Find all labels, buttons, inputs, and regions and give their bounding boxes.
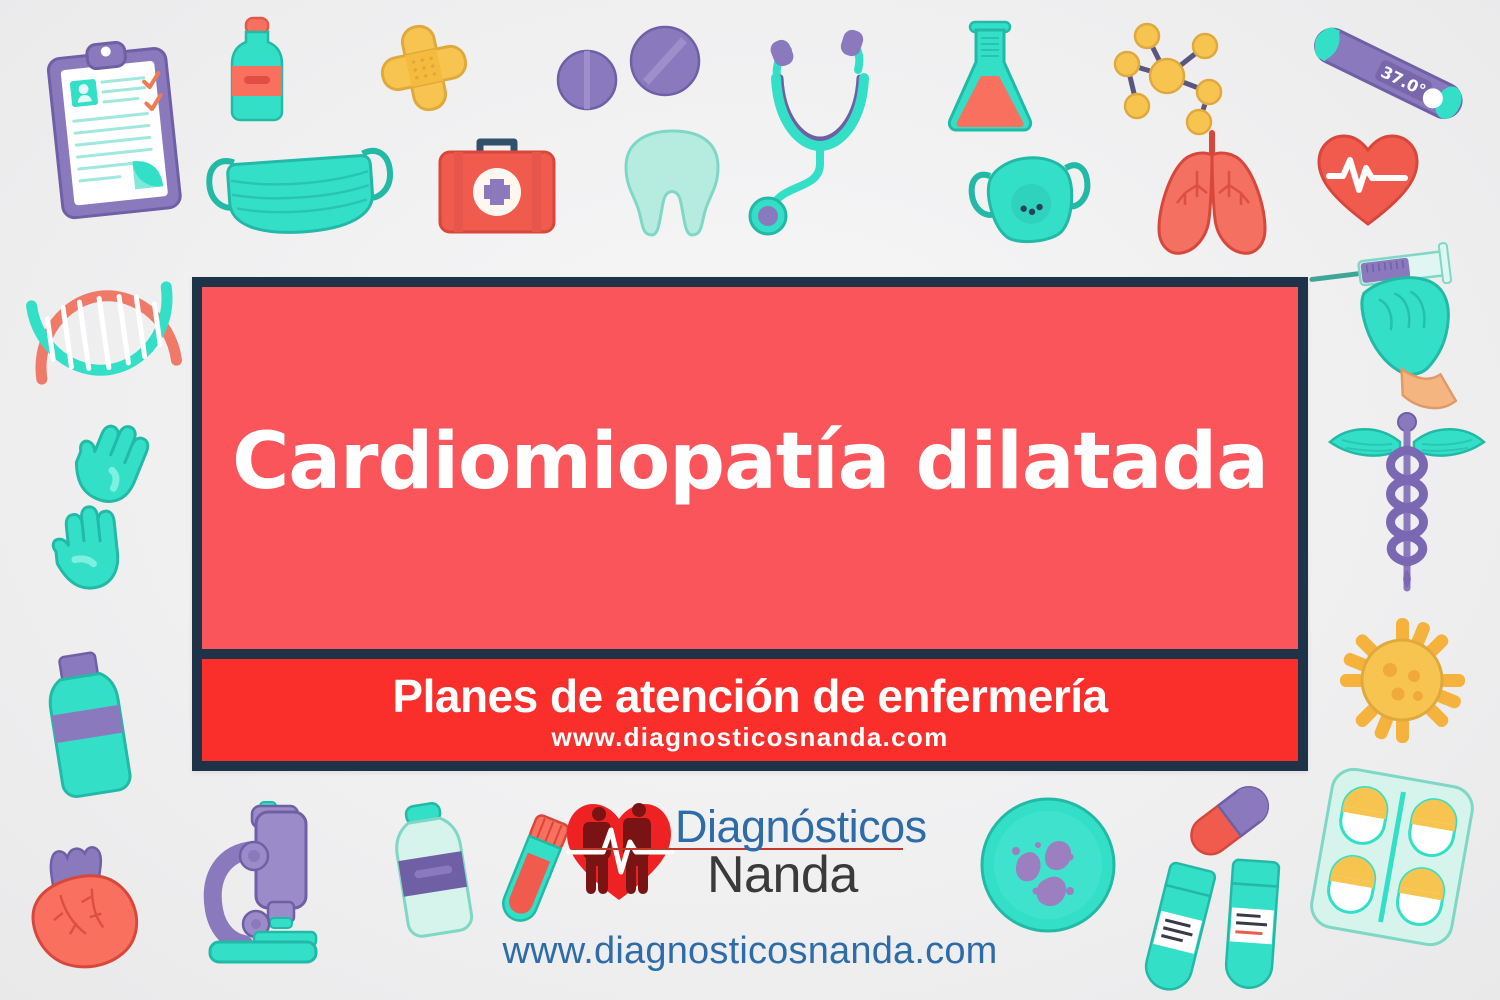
clipboard-icon: [45, 35, 185, 225]
title-panel: Cardiomiopatía dilatada: [202, 287, 1298, 649]
glove-upper-icon: [62, 418, 162, 513]
syringe-hand-icon: [1310, 232, 1475, 417]
pill-small-icon: [555, 48, 619, 112]
stethoscope-icon: [748, 22, 893, 237]
blister-pack-icon: [1305, 765, 1480, 950]
logo-word-secondary: Nanda: [707, 849, 858, 901]
heart-pulse-icon: [1313, 130, 1423, 230]
medicine-bottle-icon: [222, 14, 292, 134]
adhesive-bandage-icon: [378, 22, 470, 114]
tooth-icon: [618, 125, 728, 240]
capsule-icon: [1182, 780, 1277, 860]
first-aid-kit-icon: [432, 128, 562, 238]
title-card: Cardiomiopatía dilatada Planes de atenci…: [192, 277, 1308, 771]
pill-large-icon: [628, 24, 702, 98]
card-url: www.diagnosticosnanda.com: [551, 724, 948, 750]
page-title: Cardiomiopatía dilatada: [202, 425, 1298, 499]
subtitle-band: Planes de atención de enfermería www.dia…: [202, 659, 1298, 761]
lungs-icon: [1145, 125, 1280, 265]
logo-word-primary: Diagnósticos: [675, 804, 927, 849]
poster-canvas: 37.0°: [0, 0, 1500, 1000]
logo-wordmark: Diagnósticos Nanda: [675, 796, 938, 908]
thermometer-icon: 37.0°: [1302, 16, 1472, 136]
caduceus-icon: [1322, 410, 1492, 595]
erlenmeyer-flask-icon: [940, 18, 1040, 138]
vial-bottle-icon: [382, 800, 482, 940]
dna-helix-icon: [22, 278, 187, 388]
blood-tube-icon: [494, 812, 572, 932]
spray-bottle-icon: [38, 650, 138, 805]
virus-icon: [1340, 618, 1465, 743]
respirator-mask-icon: [965, 150, 1095, 255]
glove-lower-icon: [40, 500, 140, 600]
card-subtitle: Planes de atención de enfermería: [392, 673, 1107, 719]
footer-url[interactable]: www.diagnosticosnanda.com: [0, 930, 1500, 973]
sample-tube-left-icon: [1142, 860, 1220, 995]
molecule-icon: [1105, 18, 1235, 138]
brand-logo[interactable]: Diagnósticos Nanda: [563, 793, 938, 911]
petri-dish-icon: [978, 795, 1118, 935]
card-divider: [202, 649, 1298, 659]
surgical-mask-icon: [208, 140, 393, 240]
logo-heart-figures-icon: [563, 796, 675, 908]
